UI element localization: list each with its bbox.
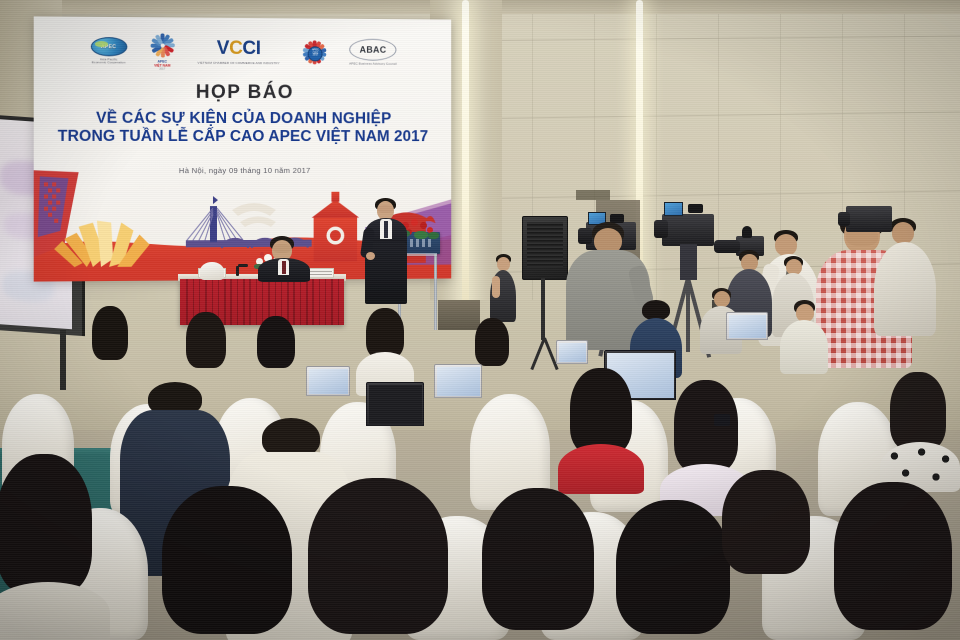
- name-card: [306, 268, 334, 278]
- camera-lens: [838, 212, 850, 226]
- audience-member: [250, 316, 302, 390]
- banner-title: HỌP BÁO: [34, 81, 451, 104]
- pa-loudspeaker: [522, 216, 568, 280]
- audience-member: [84, 306, 136, 384]
- vcci-icon: VCCI: [217, 38, 261, 60]
- logo-apec-vn-line3: 2017: [159, 67, 165, 70]
- audience-member: [356, 308, 414, 392]
- pa-speaker-grill: [527, 222, 563, 267]
- banner-subtitle: VỀ CÁC SỰ KIỆN CỦA DOANH NGHIỆP TRONG TU…: [34, 110, 451, 147]
- banner-subtitle-line2: TRONG TUẦN LỄ CẤP CAO APEC VIỆT NAM 2017: [34, 128, 451, 147]
- foreground-audience-member: [148, 486, 314, 640]
- banner-subtitle-line1: VỀ CÁC SỰ KIỆN CỦA DOANH NGHIỆP: [34, 110, 451, 129]
- ceo-summit-icon: APECCEO2017: [302, 39, 328, 65]
- microphone-head: [238, 264, 248, 267]
- logo-vcci: VCCI VIETNAM CHAMBER OF COMMERCE AND IND…: [197, 38, 279, 66]
- table-object: [200, 262, 224, 280]
- camera-lcd-screen: [664, 202, 683, 216]
- laptop[interactable]: [366, 382, 422, 424]
- foreground-audience-member: [710, 470, 828, 594]
- audience-member: [558, 368, 644, 488]
- projection-screen-stand: [60, 330, 66, 390]
- camera-viewfinder: [688, 204, 703, 213]
- foreground-audience-member: [820, 482, 960, 640]
- apec-icon: APEC: [90, 37, 127, 56]
- camera-lens: [654, 220, 668, 238]
- camera-flash-mount: [742, 226, 752, 238]
- seated-panelist: [258, 236, 310, 280]
- audience-member: [880, 372, 960, 488]
- audience-member: [178, 312, 234, 392]
- logo-apec: APEC Asia-PacificEconomic Cooperation: [90, 37, 127, 65]
- logo-apec-caption: Asia-PacificEconomic Cooperation: [92, 58, 126, 65]
- abac-icon: ABAC: [349, 39, 396, 61]
- logo-ceo-summit: APECCEO2017: [302, 39, 328, 65]
- tripod-head: [680, 244, 697, 280]
- foreground-audience-member: [0, 454, 110, 640]
- laptop[interactable]: [434, 364, 480, 396]
- background-attendee: [780, 300, 828, 370]
- laptop[interactable]: [726, 312, 766, 338]
- laptop[interactable]: [556, 340, 586, 362]
- hair-clip: [714, 414, 730, 426]
- logo-abac-caption: APEC Business Advisory Council: [349, 62, 397, 66]
- pa-speaker-pole: [541, 278, 545, 340]
- press-conference-photo: APEC Asia-PacificEconomic Cooperation AP…: [0, 0, 960, 640]
- logo-abac: ABAC APEC Business Advisory Council: [349, 39, 397, 66]
- banner-logo-row: APEC Asia-PacificEconomic Cooperation AP…: [34, 29, 451, 75]
- standing-attendee: [489, 254, 517, 324]
- foreground-audience-member: [296, 478, 470, 640]
- tripod-leg: [686, 278, 690, 352]
- shoulder-camera: [846, 206, 892, 232]
- logo-apec-vietnam-2017: APEC VIỆT NAM 2017: [149, 33, 175, 71]
- wall-vent: [576, 190, 610, 200]
- wall-light-strip-left: [462, 0, 469, 330]
- cameraman-shoulder-camera: [874, 216, 936, 336]
- laptop[interactable]: [306, 366, 348, 394]
- apec-vietnam-icon: [149, 33, 175, 59]
- microphone: [236, 266, 239, 276]
- video-camera: [662, 214, 714, 246]
- logo-vcci-caption: VIETNAM CHAMBER OF COMMERCE AND INDUSTRY: [197, 62, 279, 66]
- foreground-audience-member: [468, 488, 618, 640]
